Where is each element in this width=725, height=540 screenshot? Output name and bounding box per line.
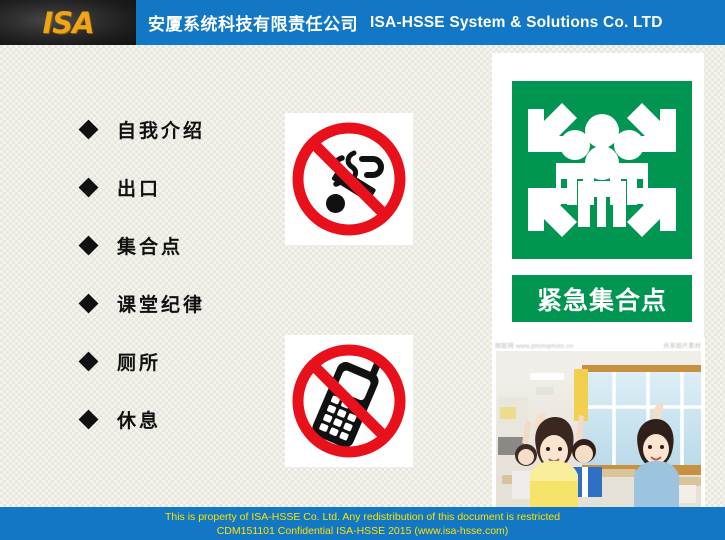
footer-document-line: CDM151101 Confidential ISA-HSSE 2015 (ww… <box>217 524 509 538</box>
agenda-list: 自我介绍 出口 集合点 课堂纪律 厕所 休息 <box>82 100 282 448</box>
slide-footer: This is property of ISA-HSSE Co. Ltd. An… <box>0 507 725 540</box>
diamond-bullet-icon <box>79 236 97 254</box>
diamond-bullet-icon <box>79 352 97 370</box>
list-item: 出口 <box>82 158 282 216</box>
agenda-item-label: 出口 <box>117 174 161 201</box>
list-item: 自我介绍 <box>82 100 282 158</box>
photo-watermark: 图联网 www.photophoto.cn 共享图片素材 <box>492 338 705 351</box>
assembly-point-pictogram-icon <box>512 81 692 259</box>
diamond-bullet-icon <box>79 120 97 138</box>
classroom-photo-container: 图联网 www.photophoto.cn 共享图片素材 <box>492 338 705 511</box>
photo-watermark-right: 共享图片素材 <box>663 341 701 350</box>
diamond-bullet-icon <box>79 294 97 312</box>
company-name-en: ISA-HSSE System & Solutions Co. LTD <box>370 14 663 32</box>
classroom-photo-illustration <box>496 351 701 507</box>
assembly-point-panel: 紧急集合点 <box>492 53 704 338</box>
header-title-bar: 安厦系统科技有限责任公司 ISA-HSSE System & Solutions… <box>136 0 725 45</box>
diamond-bullet-icon <box>79 410 97 428</box>
assembly-point-sign <box>512 81 692 259</box>
agenda-item-label: 休息 <box>117 406 161 433</box>
assembly-point-banner: 紧急集合点 <box>512 275 692 322</box>
diamond-bullet-icon <box>79 178 97 196</box>
list-item: 休息 <box>82 390 282 448</box>
classroom-photo <box>496 351 701 507</box>
list-item: 课堂纪律 <box>82 274 282 332</box>
footer-copyright-line: This is property of ISA-HSSE Co. Ltd. An… <box>165 510 560 524</box>
agenda-item-label: 自我介绍 <box>117 116 205 143</box>
slide: ISA 安厦系统科技有限责任公司 ISA-HSSE System & Solut… <box>0 0 725 540</box>
slide-header: ISA 安厦系统科技有限责任公司 ISA-HSSE System & Solut… <box>0 0 725 45</box>
agenda-item-label: 集合点 <box>117 232 183 259</box>
list-item: 集合点 <box>82 216 282 274</box>
no-mobile-phone-sign-container <box>285 335 413 467</box>
assembly-point-banner-text: 紧急集合点 <box>537 281 667 317</box>
list-item: 厕所 <box>82 332 282 390</box>
company-name-cn: 安厦系统科技有限责任公司 <box>148 10 358 35</box>
isa-logo: ISA <box>0 0 136 45</box>
no-mobile-phone-icon <box>290 342 408 460</box>
no-smoking-icon <box>290 120 408 238</box>
no-smoking-sign-container <box>285 113 413 245</box>
agenda-item-label: 课堂纪律 <box>117 290 205 317</box>
agenda-item-label: 厕所 <box>117 348 161 375</box>
